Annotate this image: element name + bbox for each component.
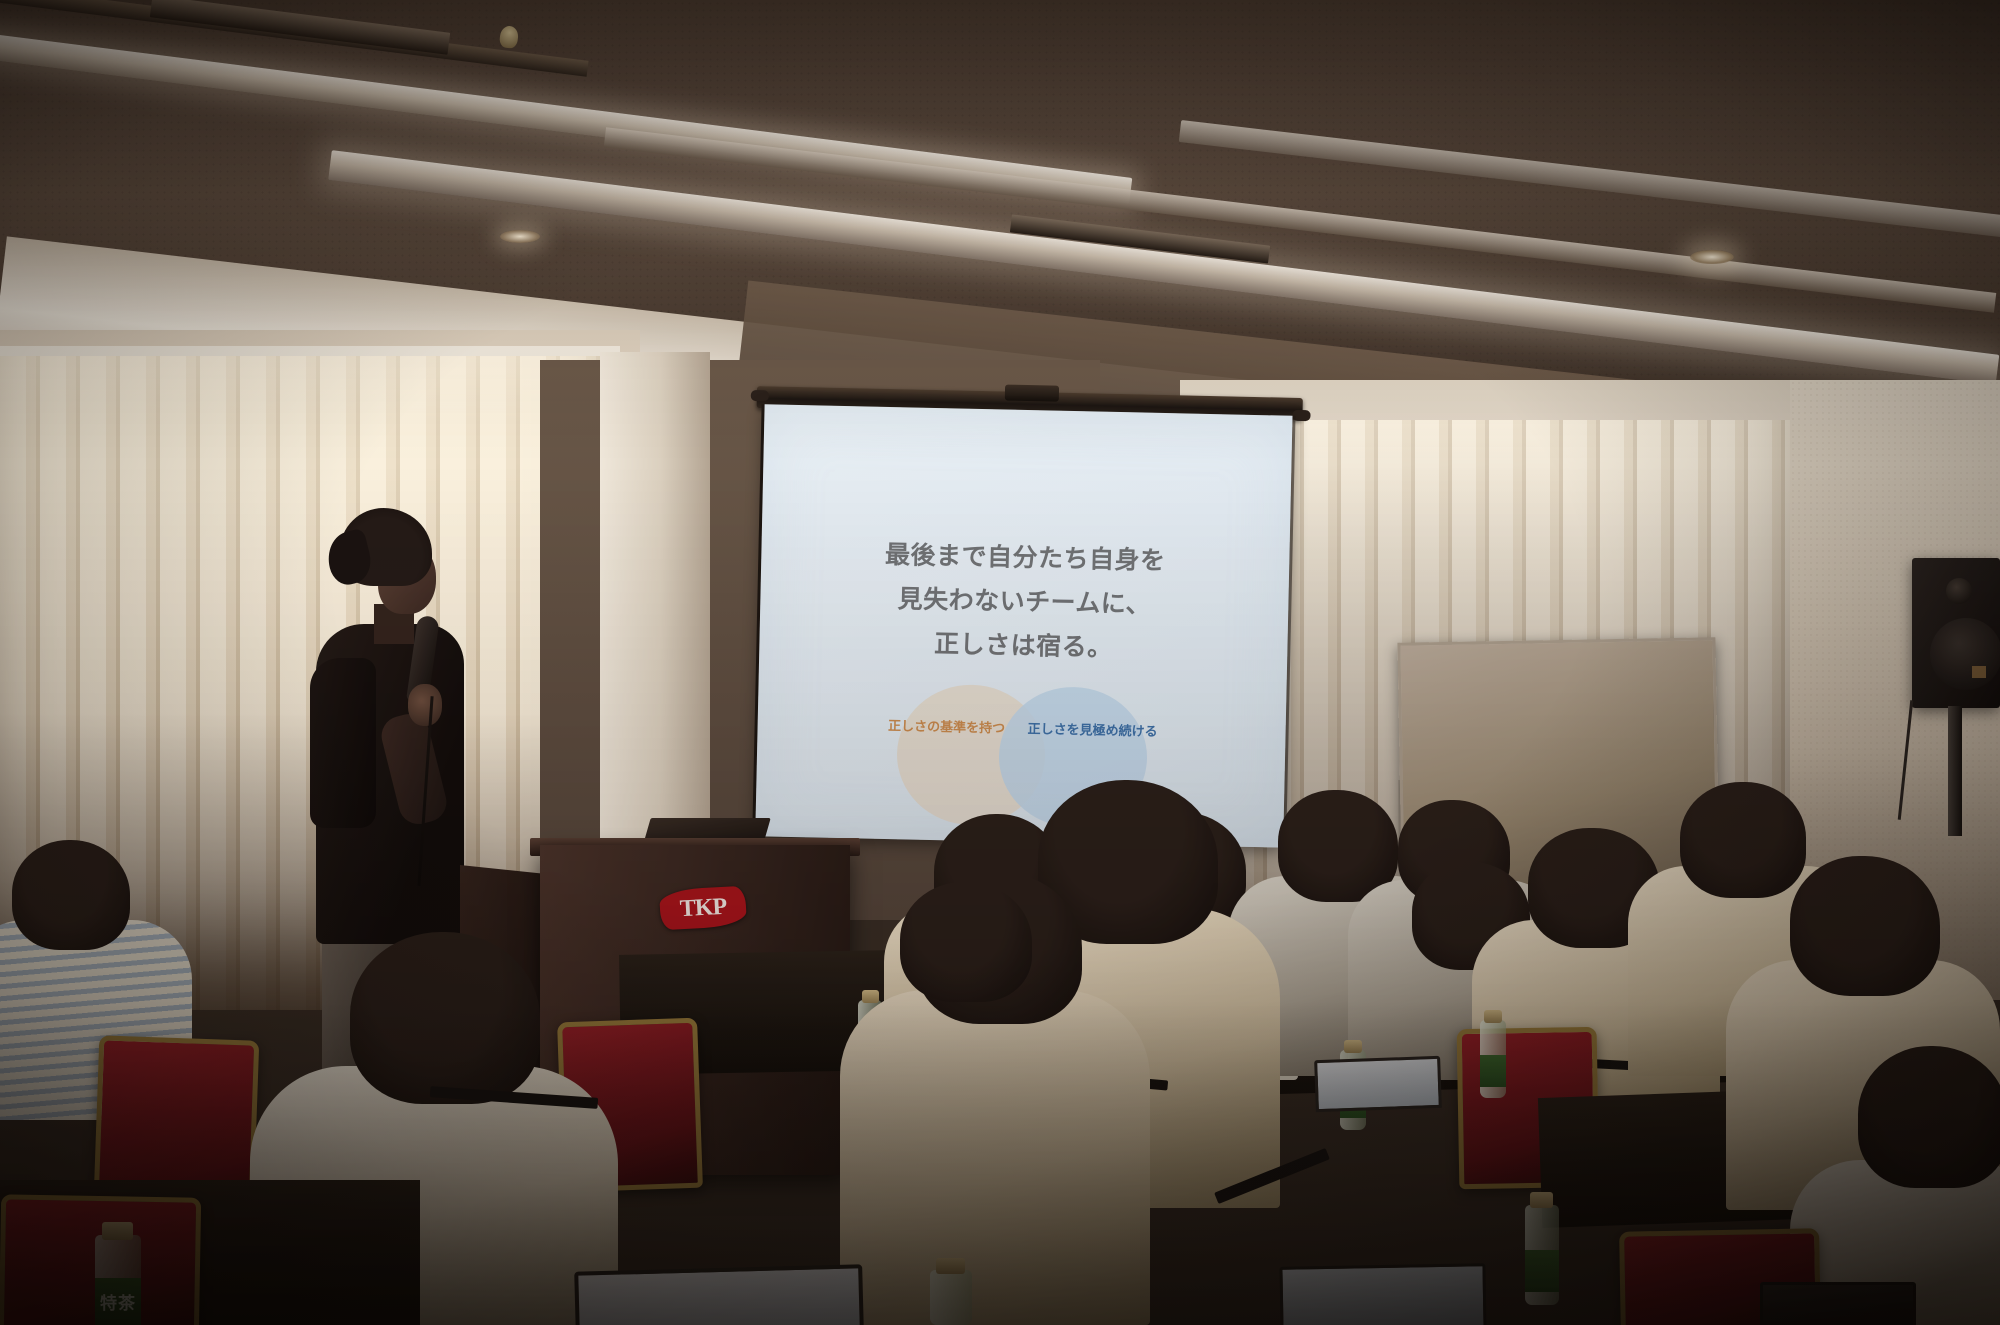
slide-surface: 最後まで自分たち自身を 見失わないチームに、 正しさは宿る。 正しさの基準を持つ… — [755, 404, 1292, 847]
screen-housing-cap-left — [751, 390, 769, 401]
slide-headline-line-2: 見失わないチームに、 — [760, 576, 1289, 624]
bottle-cap — [862, 990, 879, 1003]
bottle-cap — [102, 1222, 133, 1240]
bottle-cap — [1344, 1040, 1362, 1053]
audience-head-foreground — [1858, 1046, 2000, 1188]
slide-headline-line-1: 最後まで自分たち自身を — [761, 532, 1290, 580]
audience-head-foreground — [350, 932, 540, 1104]
audience-laptop — [1279, 1263, 1486, 1325]
presenter-sleeve — [310, 658, 376, 828]
bottle-cap — [1484, 1010, 1502, 1023]
screen-ceiling-mount — [1005, 385, 1059, 402]
audience-head — [1680, 782, 1806, 898]
pa-badge — [1972, 666, 1986, 678]
bottle-cap — [1530, 1192, 1553, 1208]
audience-laptop — [1314, 1056, 1442, 1112]
pa-speaker-stand — [1948, 706, 1962, 836]
tkp-logo-text: TKP — [679, 893, 727, 922]
downlight-2 — [500, 230, 540, 243]
audience-device — [1760, 1282, 1916, 1325]
audience-body — [840, 990, 1150, 1325]
water-bottle — [930, 1270, 972, 1325]
bottle-label — [1525, 1250, 1559, 1292]
slide-headline-line-3: 正しさは宿る。 — [759, 620, 1288, 668]
bottle-label-text: 特茶 — [100, 1289, 136, 1314]
venn-label-right: 正しさを見極め続ける — [1025, 720, 1159, 742]
venn-label-left: 正しさの基準を持つ — [879, 717, 1013, 739]
conference-room-photo: 最後まで自分たち自身を 見失わないチームに、 正しさは宿る。 正しさの基準を持つ… — [0, 0, 2000, 1325]
audience-head — [900, 882, 1032, 1002]
blinds-rail-left — [0, 346, 620, 356]
audience-head — [1790, 856, 1940, 996]
downlight-1 — [1690, 250, 1734, 264]
pa-woofer-icon — [1930, 618, 2000, 690]
audience-head — [12, 840, 130, 950]
pa-tweeter-icon — [1946, 578, 1972, 604]
foreground-laptop — [574, 1264, 864, 1325]
presenter-hand — [408, 684, 442, 726]
bottle-cap — [936, 1258, 965, 1274]
projection-screen: 最後まで自分たち自身を 見失わないチームに、 正しさは宿る。 正しさの基準を持つ… — [755, 386, 1295, 852]
bottle-label: 特茶 — [95, 1278, 141, 1325]
bottle-label — [1480, 1055, 1506, 1087]
